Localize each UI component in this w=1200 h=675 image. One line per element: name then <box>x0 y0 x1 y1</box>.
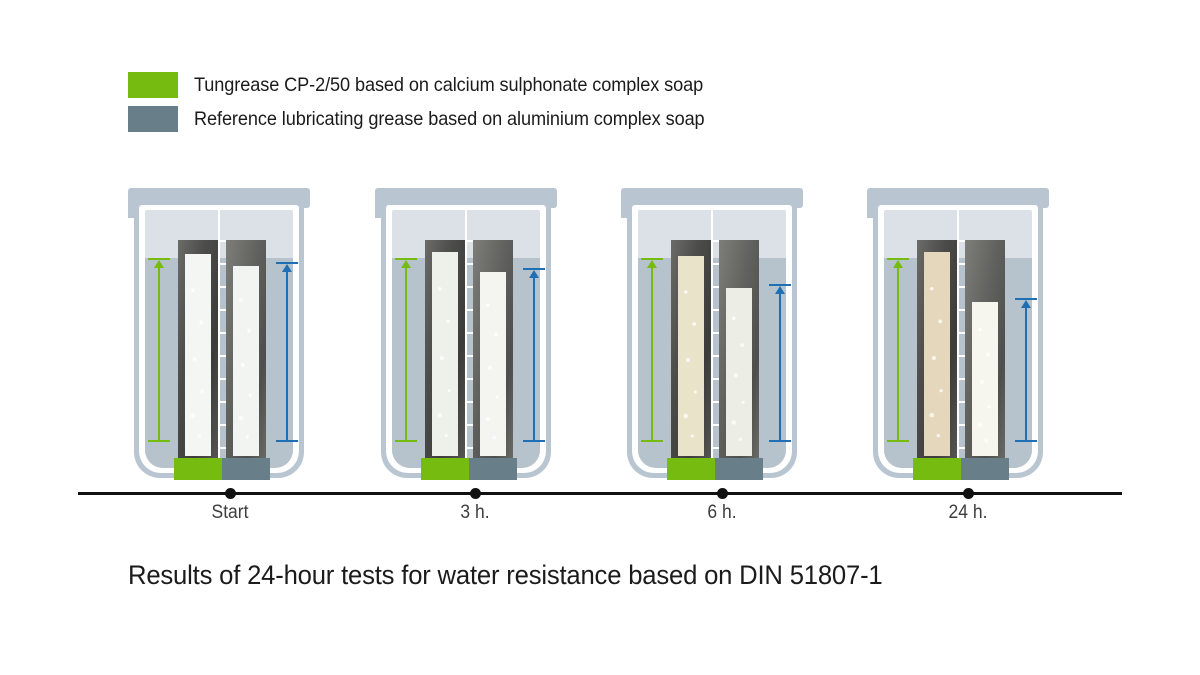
timeline-label-24h: 24 h. <box>949 502 988 524</box>
test-strip-reference <box>226 240 266 462</box>
strip-specimen <box>972 302 998 456</box>
strip-specimen <box>185 254 211 456</box>
legend: Tungrease CP-2/50 based on calcium sulph… <box>128 68 743 136</box>
timeline-dot-3h <box>470 488 481 499</box>
test-strip-reference <box>965 240 1005 462</box>
arrow-shaft <box>286 270 288 442</box>
figure-canvas: Tungrease CP-2/50 based on calcium sulph… <box>0 0 1200 675</box>
test-strip-tungrease <box>917 240 957 462</box>
test-strip-reference <box>719 240 759 462</box>
grease-block-grey <box>469 458 517 480</box>
grease-block-grey <box>961 458 1009 480</box>
grease-block-green <box>174 458 222 480</box>
measure-arrow-right <box>769 284 791 442</box>
measure-arrow-left <box>641 258 663 442</box>
arrow-shaft <box>405 266 407 442</box>
test-strip-reference <box>473 240 513 462</box>
test-strip-tungrease <box>178 240 218 462</box>
timeline-label-6h: 6 h. <box>707 502 736 524</box>
arrow-cap-bottom <box>395 440 417 442</box>
beaker-glass <box>621 188 803 480</box>
beaker-glass <box>375 188 557 480</box>
arrow-cap-bottom <box>523 440 545 442</box>
beaker-glass <box>867 188 1049 480</box>
strip-specimen <box>432 252 458 456</box>
measure-arrow-left <box>148 258 170 442</box>
grease-block-grey <box>715 458 763 480</box>
timeline-axis <box>78 492 1122 495</box>
beaker-6h <box>621 188 803 480</box>
legend-swatch-green <box>128 72 178 98</box>
grease-block-green <box>913 458 961 480</box>
arrow-shaft <box>158 266 160 442</box>
arrow-shaft <box>1025 306 1027 442</box>
strip-specimen <box>726 288 752 456</box>
beaker-3h <box>375 188 557 480</box>
test-strip-tungrease <box>425 240 465 462</box>
strip-specimen <box>924 252 950 456</box>
strip-specimen <box>480 272 506 456</box>
legend-swatch-grey <box>128 106 178 132</box>
legend-label-reference: Reference lubricating grease based on al… <box>194 108 705 131</box>
grease-block-grey <box>222 458 270 480</box>
measure-arrow-left <box>395 258 417 442</box>
arrow-cap-bottom <box>1015 440 1037 442</box>
timeline-dot-6h <box>717 488 728 499</box>
arrow-cap-bottom <box>769 440 791 442</box>
measure-arrow-right <box>523 268 545 442</box>
arrow-shaft <box>651 266 653 442</box>
measure-arrow-right <box>1015 298 1037 442</box>
arrow-shaft <box>533 276 535 442</box>
arrow-shaft <box>897 266 899 442</box>
legend-item-tungrease: Tungrease CP-2/50 based on calcium sulph… <box>128 68 743 102</box>
arrow-cap-bottom <box>276 440 298 442</box>
beaker-start <box>128 188 310 480</box>
beaker-24h <box>867 188 1049 480</box>
timeline-dot-24h <box>963 488 974 499</box>
arrow-cap-bottom <box>148 440 170 442</box>
measure-arrow-right <box>276 262 298 442</box>
beaker-glass <box>128 188 310 480</box>
figure-caption: Results of 24-hour tests for water resis… <box>128 560 883 591</box>
grease-block-green <box>667 458 715 480</box>
measure-arrow-left <box>887 258 909 442</box>
legend-label-tungrease: Tungrease CP-2/50 based on calcium sulph… <box>194 74 703 97</box>
test-strip-tungrease <box>671 240 711 462</box>
strip-specimen <box>233 266 259 456</box>
arrow-cap-bottom <box>887 440 909 442</box>
timeline-label-start: Start <box>212 502 249 524</box>
timeline-dot-start <box>225 488 236 499</box>
legend-item-reference: Reference lubricating grease based on al… <box>128 102 743 136</box>
timeline-label-3h: 3 h. <box>460 502 489 524</box>
arrow-shaft <box>779 292 781 442</box>
arrow-cap-bottom <box>641 440 663 442</box>
strip-specimen <box>678 256 704 456</box>
grease-block-green <box>421 458 469 480</box>
